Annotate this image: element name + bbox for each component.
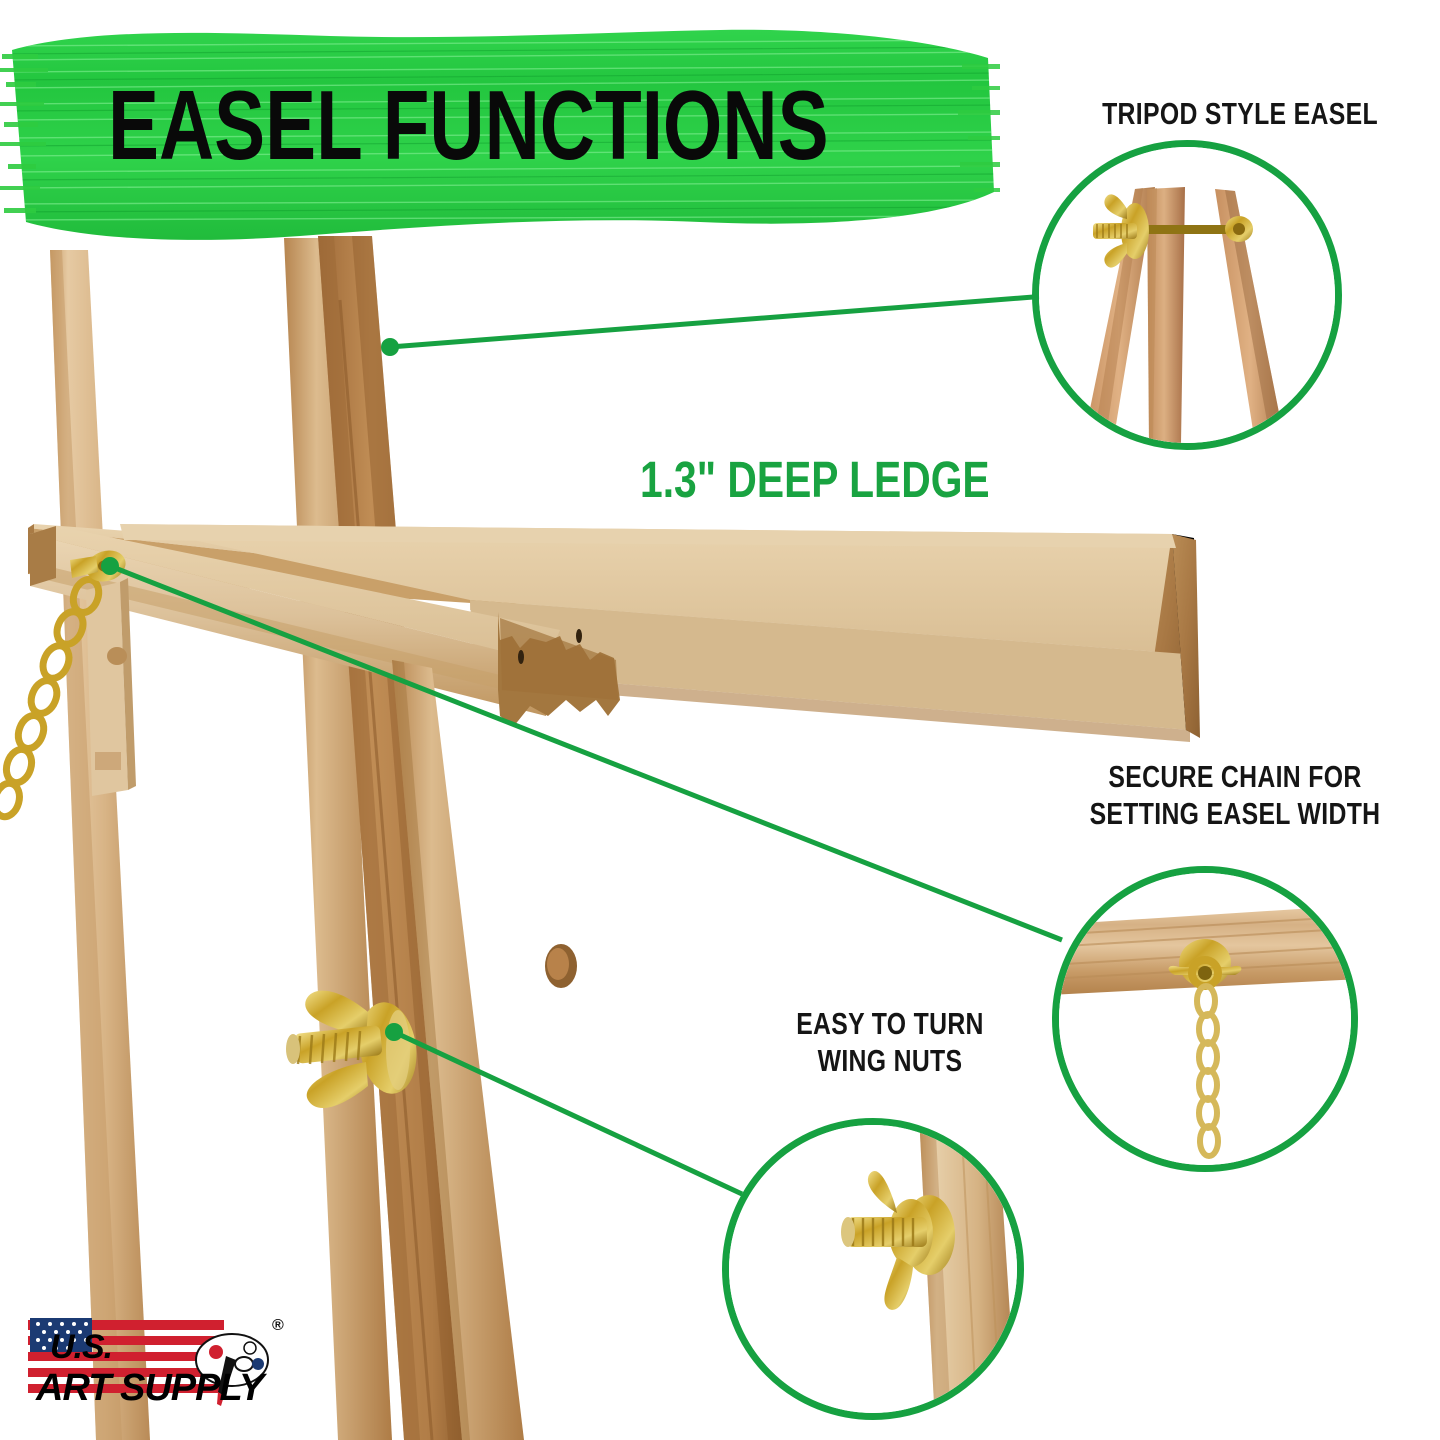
wing-nut-photo <box>729 1125 1017 1413</box>
registered-mark: ® <box>272 1317 284 1334</box>
callout-chain: SECURE CHAIN FOR SETTING EASEL WIDTH <box>1030 758 1440 832</box>
callout-wingnuts: EASY TO TURN WING NUTS <box>740 1005 1040 1079</box>
title-banner: EASEL FUNCTIONS <box>0 10 1000 250</box>
logo-line-1: U.S. <box>50 1328 112 1366</box>
logo-line-2: ART SUPPLY <box>35 1367 268 1409</box>
infographic-canvas: EASEL FUNCTIONS 1.3" DEEP LEDGE TRIPOD S… <box>0 0 1440 1440</box>
page-title: EASEL FUNCTIONS <box>108 76 829 174</box>
callout-wingnuts-inset <box>722 1118 1024 1420</box>
callout-tripod-label: TRIPOD STYLE EASEL <box>1040 95 1440 132</box>
callout-tripod-inset <box>1032 140 1342 450</box>
deep-ledge-headline-text: 1.3" DEEP LEDGE <box>640 450 990 509</box>
chain-eyebolt-photo <box>1059 873 1351 1165</box>
brand-logo: ® U.S. ART SUPPLY <box>24 1312 292 1424</box>
callout-tripod: TRIPOD STYLE EASEL <box>1040 95 1440 132</box>
tripod-joint-photo <box>1039 147 1335 443</box>
us-art-supply-logo: ® U.S. ART SUPPLY <box>24 1312 292 1424</box>
deep-ledge-headline: 1.3" DEEP LEDGE <box>640 450 1077 509</box>
callout-chain-label: SECURE CHAIN FOR SETTING EASEL WIDTH <box>1030 758 1440 832</box>
callout-wingnuts-label: EASY TO TURN WING NUTS <box>740 1005 1040 1079</box>
callout-chain-inset <box>1052 866 1358 1172</box>
